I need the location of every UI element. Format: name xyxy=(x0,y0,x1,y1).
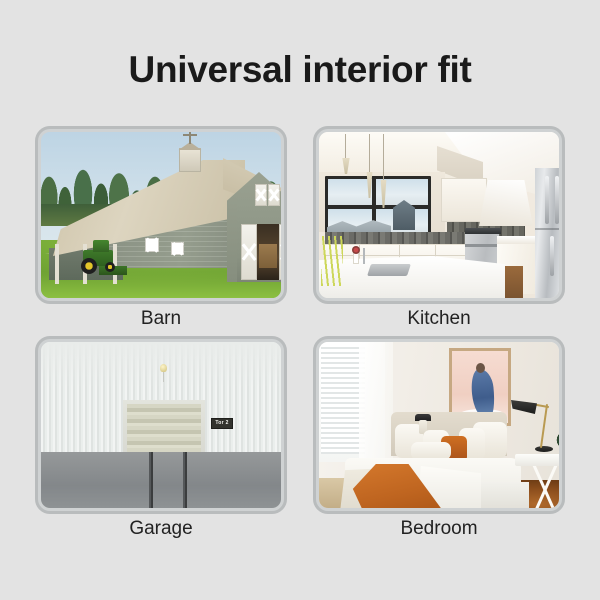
photo-barn xyxy=(41,132,281,298)
photo-frame-bedroom[interactable] xyxy=(313,336,565,514)
photo-bedroom xyxy=(319,342,559,508)
photo-frame-garage[interactable]: Tor 2 xyxy=(35,336,287,514)
photo-frame-barn[interactable] xyxy=(35,126,287,304)
kitchen-window-pane-1 xyxy=(328,179,372,205)
bedroom-sheer-curtain xyxy=(359,342,393,468)
barn-weather-vane-arm xyxy=(183,134,197,136)
card-label-kitchen: Kitchen xyxy=(310,308,568,330)
kitchen-upper-cabinet xyxy=(441,178,487,222)
barn-loft-door-left xyxy=(255,184,267,206)
barn-side-window-1 xyxy=(145,238,159,252)
barn-tractor-front-wheel xyxy=(105,262,115,272)
kitchen-range-hood xyxy=(479,180,533,226)
barn-side-window-2 xyxy=(171,242,184,255)
kitchen-freezer-handle xyxy=(550,236,554,276)
garage-asphalt-apron xyxy=(41,452,281,508)
barn-main-door-right xyxy=(279,224,281,280)
garage-rail-line-right xyxy=(185,452,187,508)
kitchen-refrigerator-handle-right xyxy=(555,176,559,224)
barn-loft-door-right xyxy=(268,184,280,206)
kitchen-backsplash-left xyxy=(325,232,465,244)
barn-tractor-rear-wheel xyxy=(81,258,97,274)
kitchen-sink xyxy=(367,264,411,276)
photo-kitchen xyxy=(319,132,559,298)
card-label-bedroom: Bedroom xyxy=(310,518,568,540)
garage-wall-lamp xyxy=(160,364,167,372)
bedroom-side-table-top xyxy=(515,454,559,466)
garage-bay-sign: Tor 2 xyxy=(211,418,233,429)
kitchen-oven-handle xyxy=(465,244,499,247)
barn-doorway-interior xyxy=(259,244,277,268)
kitchen-faucet xyxy=(363,248,365,264)
card-label-barn: Barn xyxy=(32,308,290,330)
scene-card-barn[interactable]: Barn xyxy=(32,126,290,336)
kitchen-refrigerator-handle-left xyxy=(545,176,549,224)
product-infographic: Universal interior fit xyxy=(0,0,600,600)
page-title: Universal interior fit xyxy=(0,48,600,92)
barn-post-1 xyxy=(55,244,59,284)
garage-rail-line-left xyxy=(151,452,153,508)
barn-cupola xyxy=(179,148,201,172)
barn-main-door-left xyxy=(241,224,257,280)
kitchen-cabinet-seam-1 xyxy=(325,255,465,256)
bedroom-side-table-legs xyxy=(515,464,559,508)
bedroom-desk-lamp-base xyxy=(535,446,553,452)
kitchen-cooktop xyxy=(465,228,501,234)
scene-card-bedroom[interactable]: Bedroom xyxy=(310,336,568,546)
photo-frame-kitchen[interactable] xyxy=(313,126,565,304)
kitchen-pendant-cord-3 xyxy=(383,134,384,182)
card-label-garage: Garage xyxy=(32,518,290,540)
bedroom-artwork-figure-head xyxy=(476,363,485,373)
scene-card-grid: Barn xyxy=(32,126,568,546)
kitchen-refrigerator-seam xyxy=(535,228,559,230)
kitchen-pendant-cord-2 xyxy=(369,134,370,174)
bedroom-plant xyxy=(555,430,559,456)
garage-bay-sign-text: Tor 2 xyxy=(215,421,228,426)
kitchen-decorative-grass xyxy=(321,236,343,286)
kitchen-pendant-cord-1 xyxy=(345,134,346,160)
photo-garage: Tor 2 xyxy=(41,342,281,508)
barn-tractor-cab xyxy=(93,240,109,252)
scene-card-kitchen[interactable]: Kitchen xyxy=(310,126,568,336)
scene-card-garage[interactable]: Tor 2 Garage xyxy=(32,336,290,546)
kitchen-flowers xyxy=(352,246,360,254)
